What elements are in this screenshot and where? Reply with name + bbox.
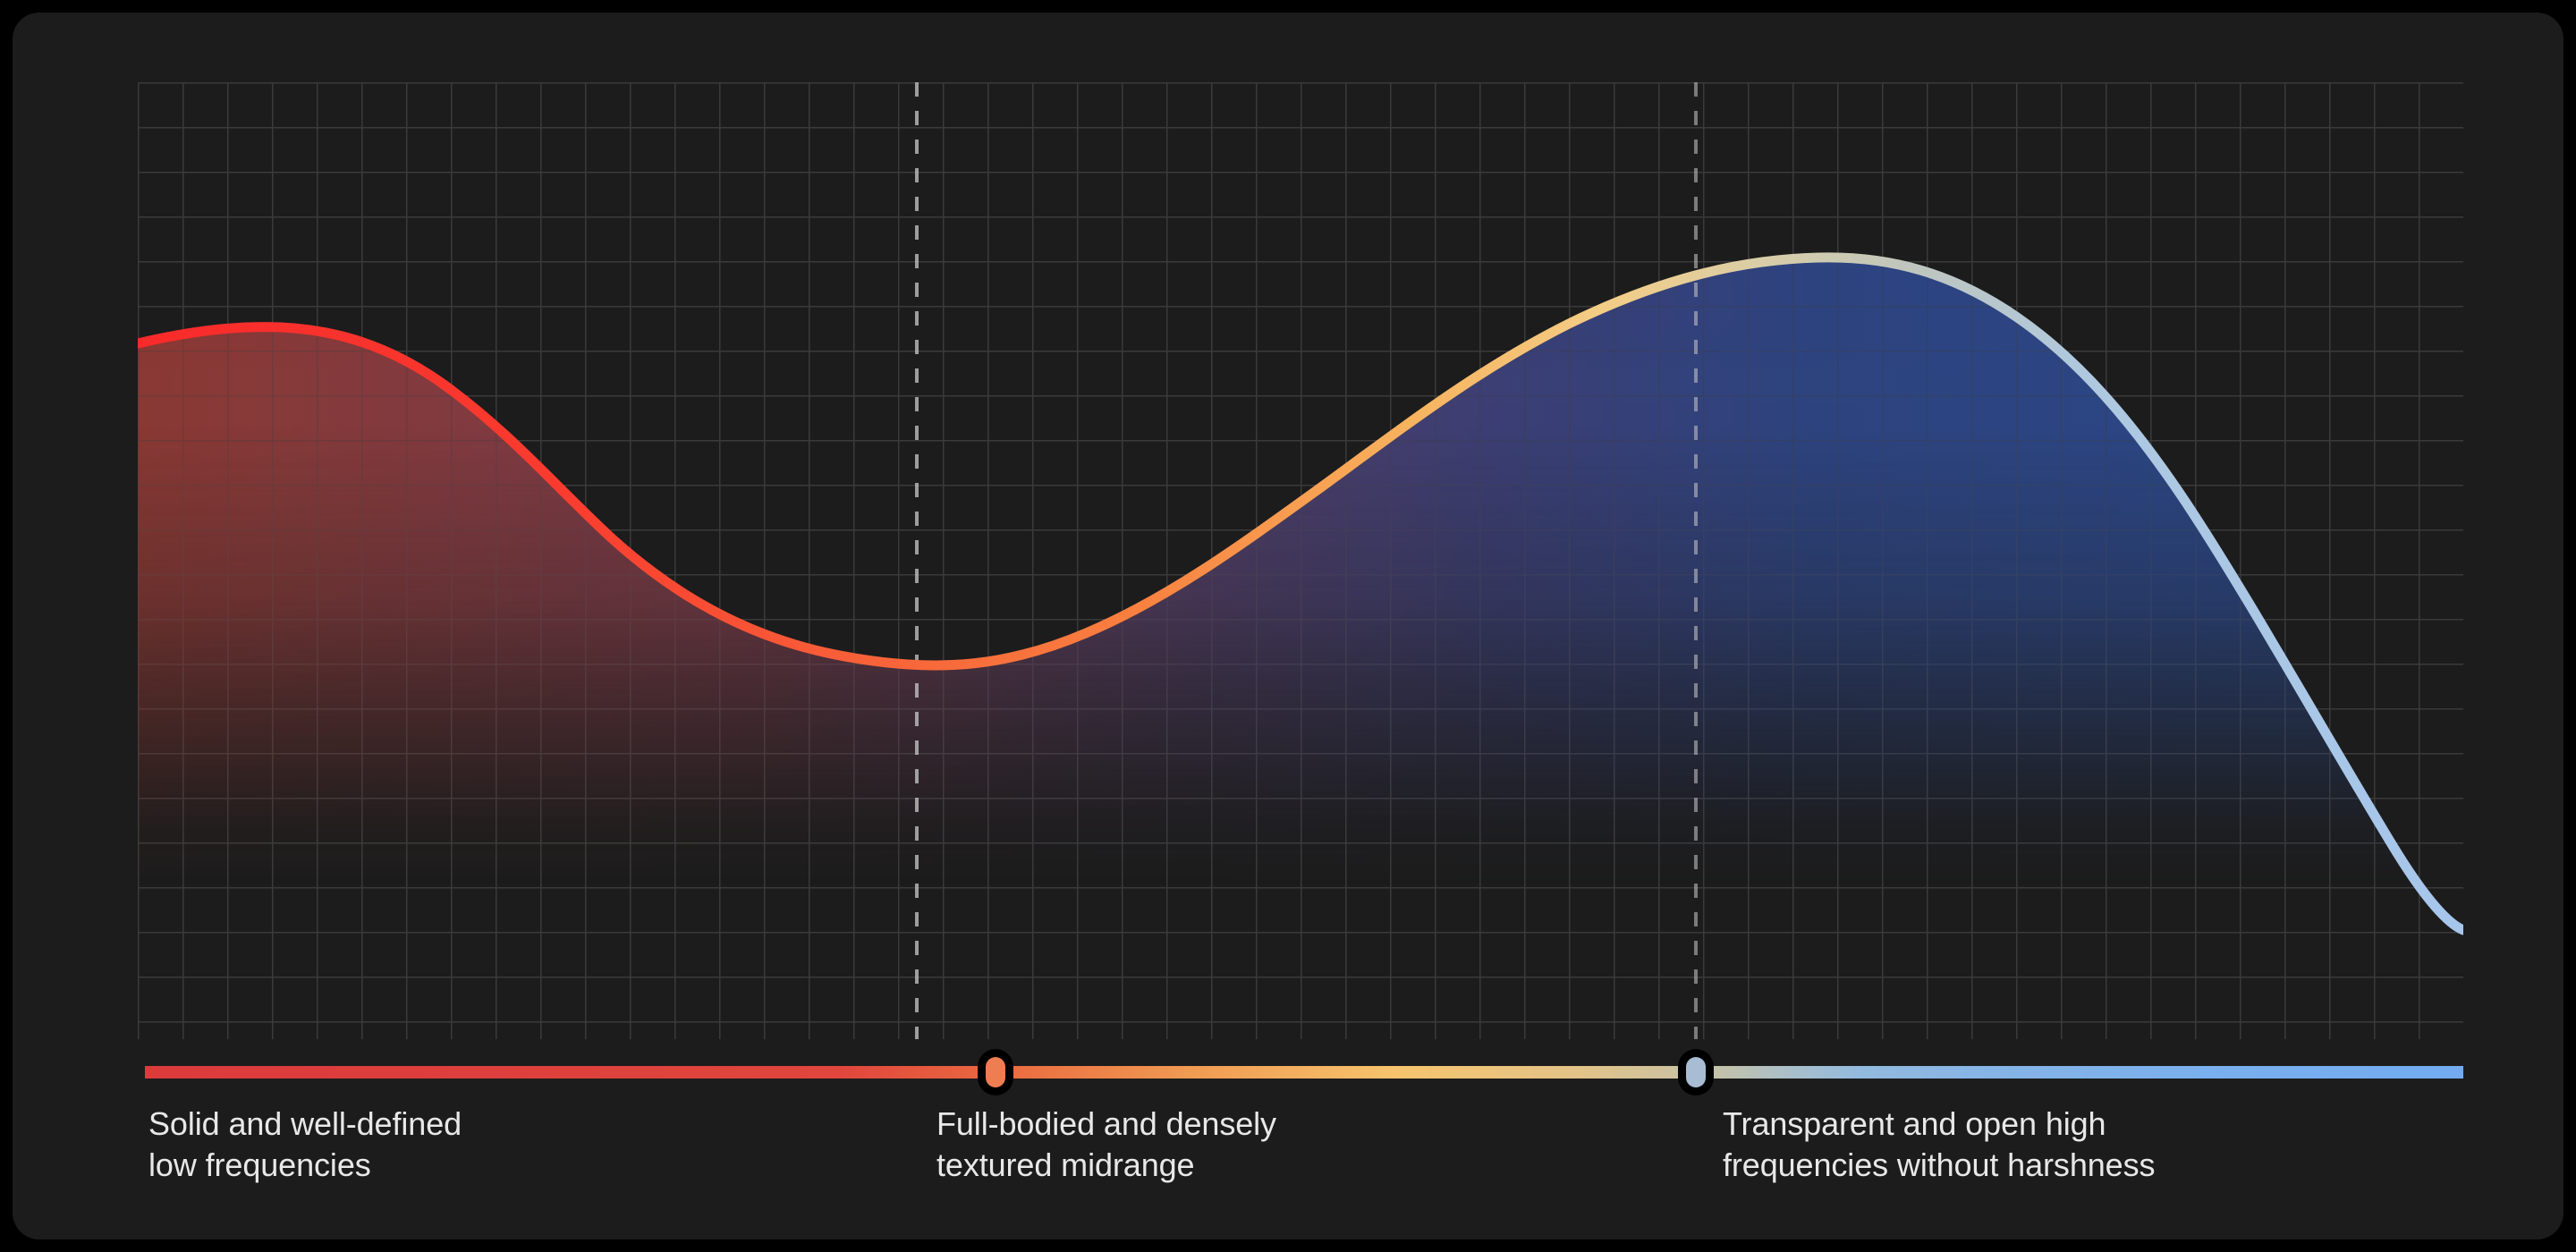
chart-plot-area <box>138 82 2463 1039</box>
mid-high-handle[interactable] <box>1686 1057 1706 1087</box>
caption-row: Solid and well-defined low frequencies F… <box>13 1104 2563 1211</box>
frequency-response-chart <box>138 82 2463 1039</box>
low-mid-handle[interactable] <box>986 1057 1005 1087</box>
caption-low: Solid and well-defined low frequencies <box>148 1104 462 1186</box>
slider-track[interactable] <box>145 1066 2463 1079</box>
caption-mid: Full-bodied and densely textured midrang… <box>936 1104 1276 1186</box>
chart-card: Solid and well-defined low frequencies F… <box>13 13 2563 1239</box>
caption-high: Transparent and open high frequencies wi… <box>1723 1104 2155 1186</box>
frequency-balance-slider[interactable] <box>145 1057 2463 1087</box>
frequency-response-visualization: Solid and well-defined low frequencies F… <box>0 0 2576 1252</box>
